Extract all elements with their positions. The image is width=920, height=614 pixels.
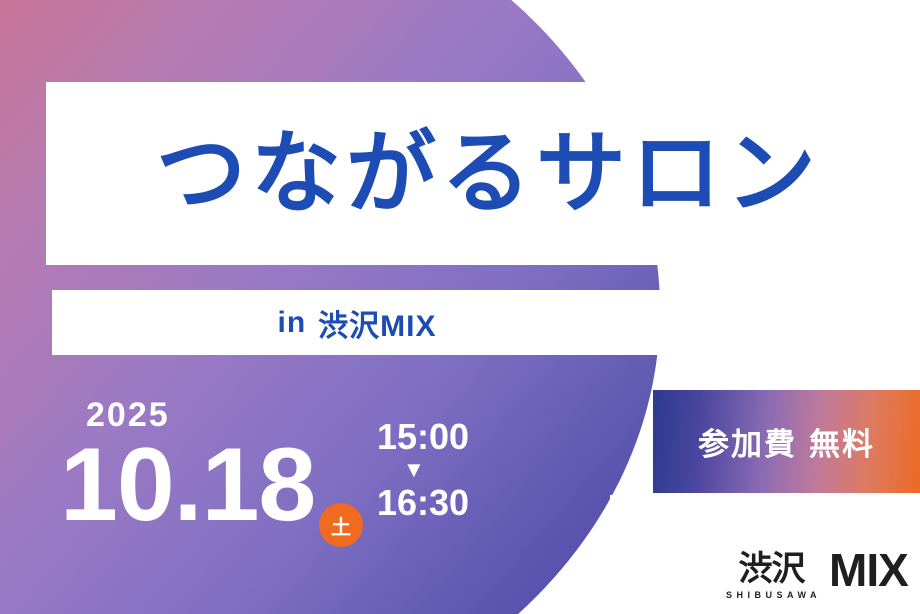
subtitle: in 渋沢MIX xyxy=(52,290,662,355)
down-arrow-icon: ▼ xyxy=(403,459,469,481)
logo-mix: MIX xyxy=(829,552,908,590)
shibusawa-mix-logo: 渋沢 SHIBUSAWA MIX xyxy=(722,552,908,600)
event-time-start: 15:00 xyxy=(377,418,469,456)
event-date-block: 2025 10.18 xyxy=(60,398,315,535)
event-date: 10.18 xyxy=(60,436,315,535)
logo-japanese: 渋沢 xyxy=(739,552,805,586)
event-time-end: 16:30 xyxy=(377,484,469,522)
logo-japanese-wrap: 渋沢 SHIBUSAWA xyxy=(722,552,821,600)
event-poster: つながるサロン in 渋沢MIX 2025 10.18 土 15:00 ▼ 16… xyxy=(0,0,920,614)
fee-label: 参加費 xyxy=(698,419,797,464)
subtitle-prefix: in xyxy=(277,306,306,340)
fee-badge: 参加費 無料 xyxy=(653,390,920,493)
day-of-week-badge: 土 xyxy=(319,503,363,547)
fee-value: 無料 xyxy=(809,419,875,464)
page-title: つながるサロン xyxy=(46,82,920,265)
subtitle-venue: 渋沢MIX xyxy=(318,301,436,345)
event-time-block: 15:00 ▼ 16:30 xyxy=(377,418,469,522)
logo-romaji: SHIBUSAWA xyxy=(726,590,821,600)
